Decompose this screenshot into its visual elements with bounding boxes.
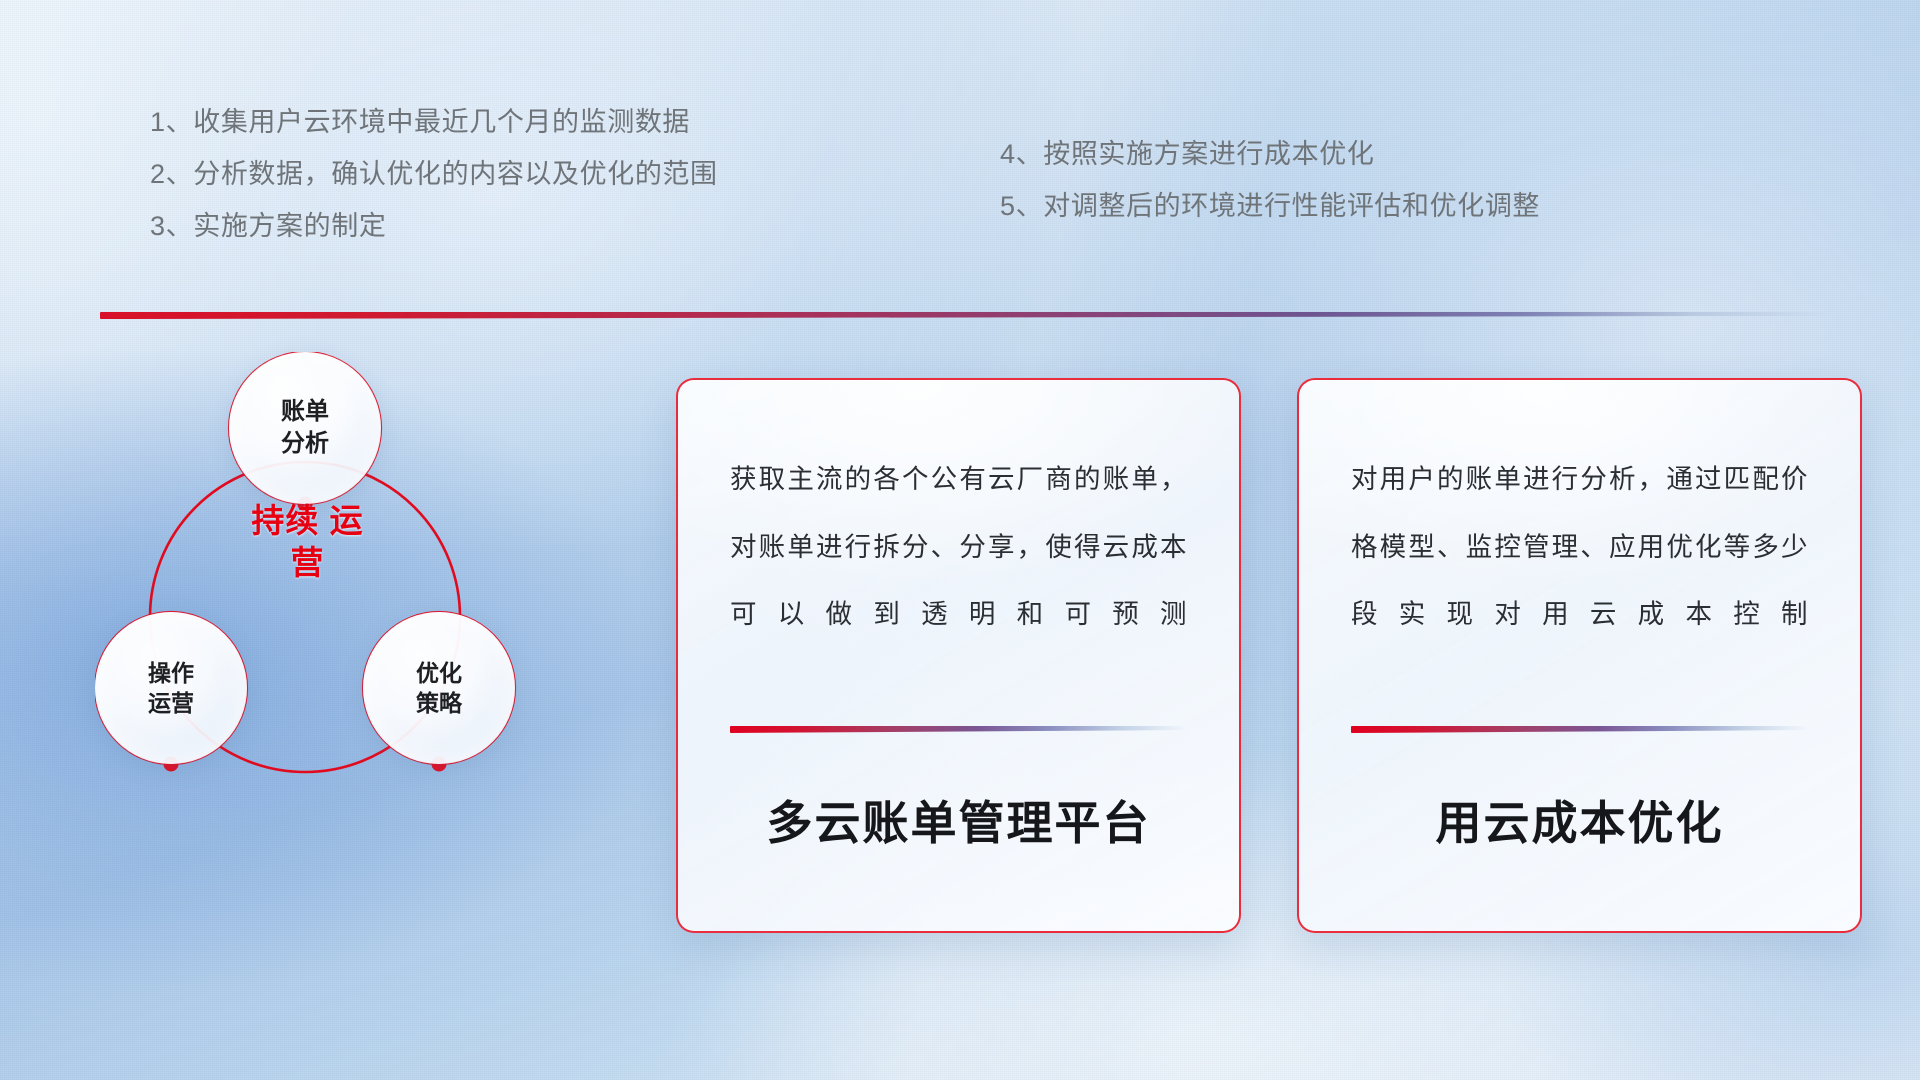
venn-bubble-bill-analysis-line1: 账单 [281, 396, 329, 428]
card-cloud-cost-optimization-body: 对用户的账单进行分析，通过匹配价格模型、监控管理、应用优化等多少段实现对用云成本… [1351, 446, 1808, 696]
steps-column-right: 4、按照实施方案进行成本优化 5、对调整后的环境进行性能评估和优化调整 [1000, 128, 1540, 232]
card-cloud-cost-optimization-rule [1351, 726, 1808, 733]
venn-bubble-operation-management[interactable]: 操作 运营 [95, 612, 247, 764]
venn-bubble-bill-analysis[interactable]: 账单 分析 [229, 352, 381, 504]
card-multicloud-billing-title: 多云账单管理平台 [730, 787, 1187, 853]
card-multicloud-billing-rule [730, 726, 1187, 733]
venn-bubble-operation-management-line2: 运营 [148, 688, 194, 718]
venn-bubble-optimization-strategy-line1: 优化 [416, 658, 462, 688]
card-multicloud-billing-body: 获取主流的各个公有云厂商的账单，对账单进行拆分、分享，使得云成本可以做到透明和可… [730, 446, 1187, 696]
card-cloud-cost-optimization-title: 用云成本优化 [1351, 787, 1808, 853]
step-item-1: 1、收集用户云环境中最近几个月的监测数据 [150, 96, 718, 148]
card-group: 获取主流的各个公有云厂商的账单，对账单进行拆分、分享，使得云成本可以做到透明和可… [676, 378, 1862, 938]
section-divider [100, 312, 1830, 319]
venn-center-label-line1: 持续 [251, 502, 319, 539]
step-item-5: 5、对调整后的环境进行性能评估和优化调整 [1000, 180, 1540, 232]
step-item-4: 4、按照实施方案进行成本优化 [1000, 128, 1540, 180]
venn-bubble-optimization-strategy-line2: 策略 [416, 688, 462, 718]
venn-center-label: 持续 运营 [245, 500, 370, 584]
venn-bubble-bill-analysis-line2: 分析 [281, 428, 329, 460]
step-item-2: 2、分析数据，确认优化的内容以及优化的范围 [150, 148, 718, 200]
venn-diagram: 账单 分析 操作 运营 优化 策略 持续 运营 [95, 352, 565, 822]
card-multicloud-billing[interactable]: 获取主流的各个公有云厂商的账单，对账单进行拆分、分享，使得云成本可以做到透明和可… [676, 378, 1241, 933]
venn-bubble-operation-management-line1: 操作 [148, 658, 194, 688]
divider-gradient-bar [100, 312, 1830, 319]
step-item-3: 3、实施方案的制定 [150, 200, 718, 252]
venn-bubble-optimization-strategy[interactable]: 优化 策略 [363, 612, 515, 764]
card-cloud-cost-optimization[interactable]: 对用户的账单进行分析，通过匹配价格模型、监控管理、应用优化等多少段实现对用云成本… [1297, 378, 1862, 933]
steps-list: 1、收集用户云环境中最近几个月的监测数据 2、分析数据，确认优化的内容以及优化的… [0, 96, 1920, 266]
steps-column-left: 1、收集用户云环境中最近几个月的监测数据 2、分析数据，确认优化的内容以及优化的… [150, 96, 718, 252]
slide-canvas: 1、收集用户云环境中最近几个月的监测数据 2、分析数据，确认优化的内容以及优化的… [0, 0, 1920, 1080]
